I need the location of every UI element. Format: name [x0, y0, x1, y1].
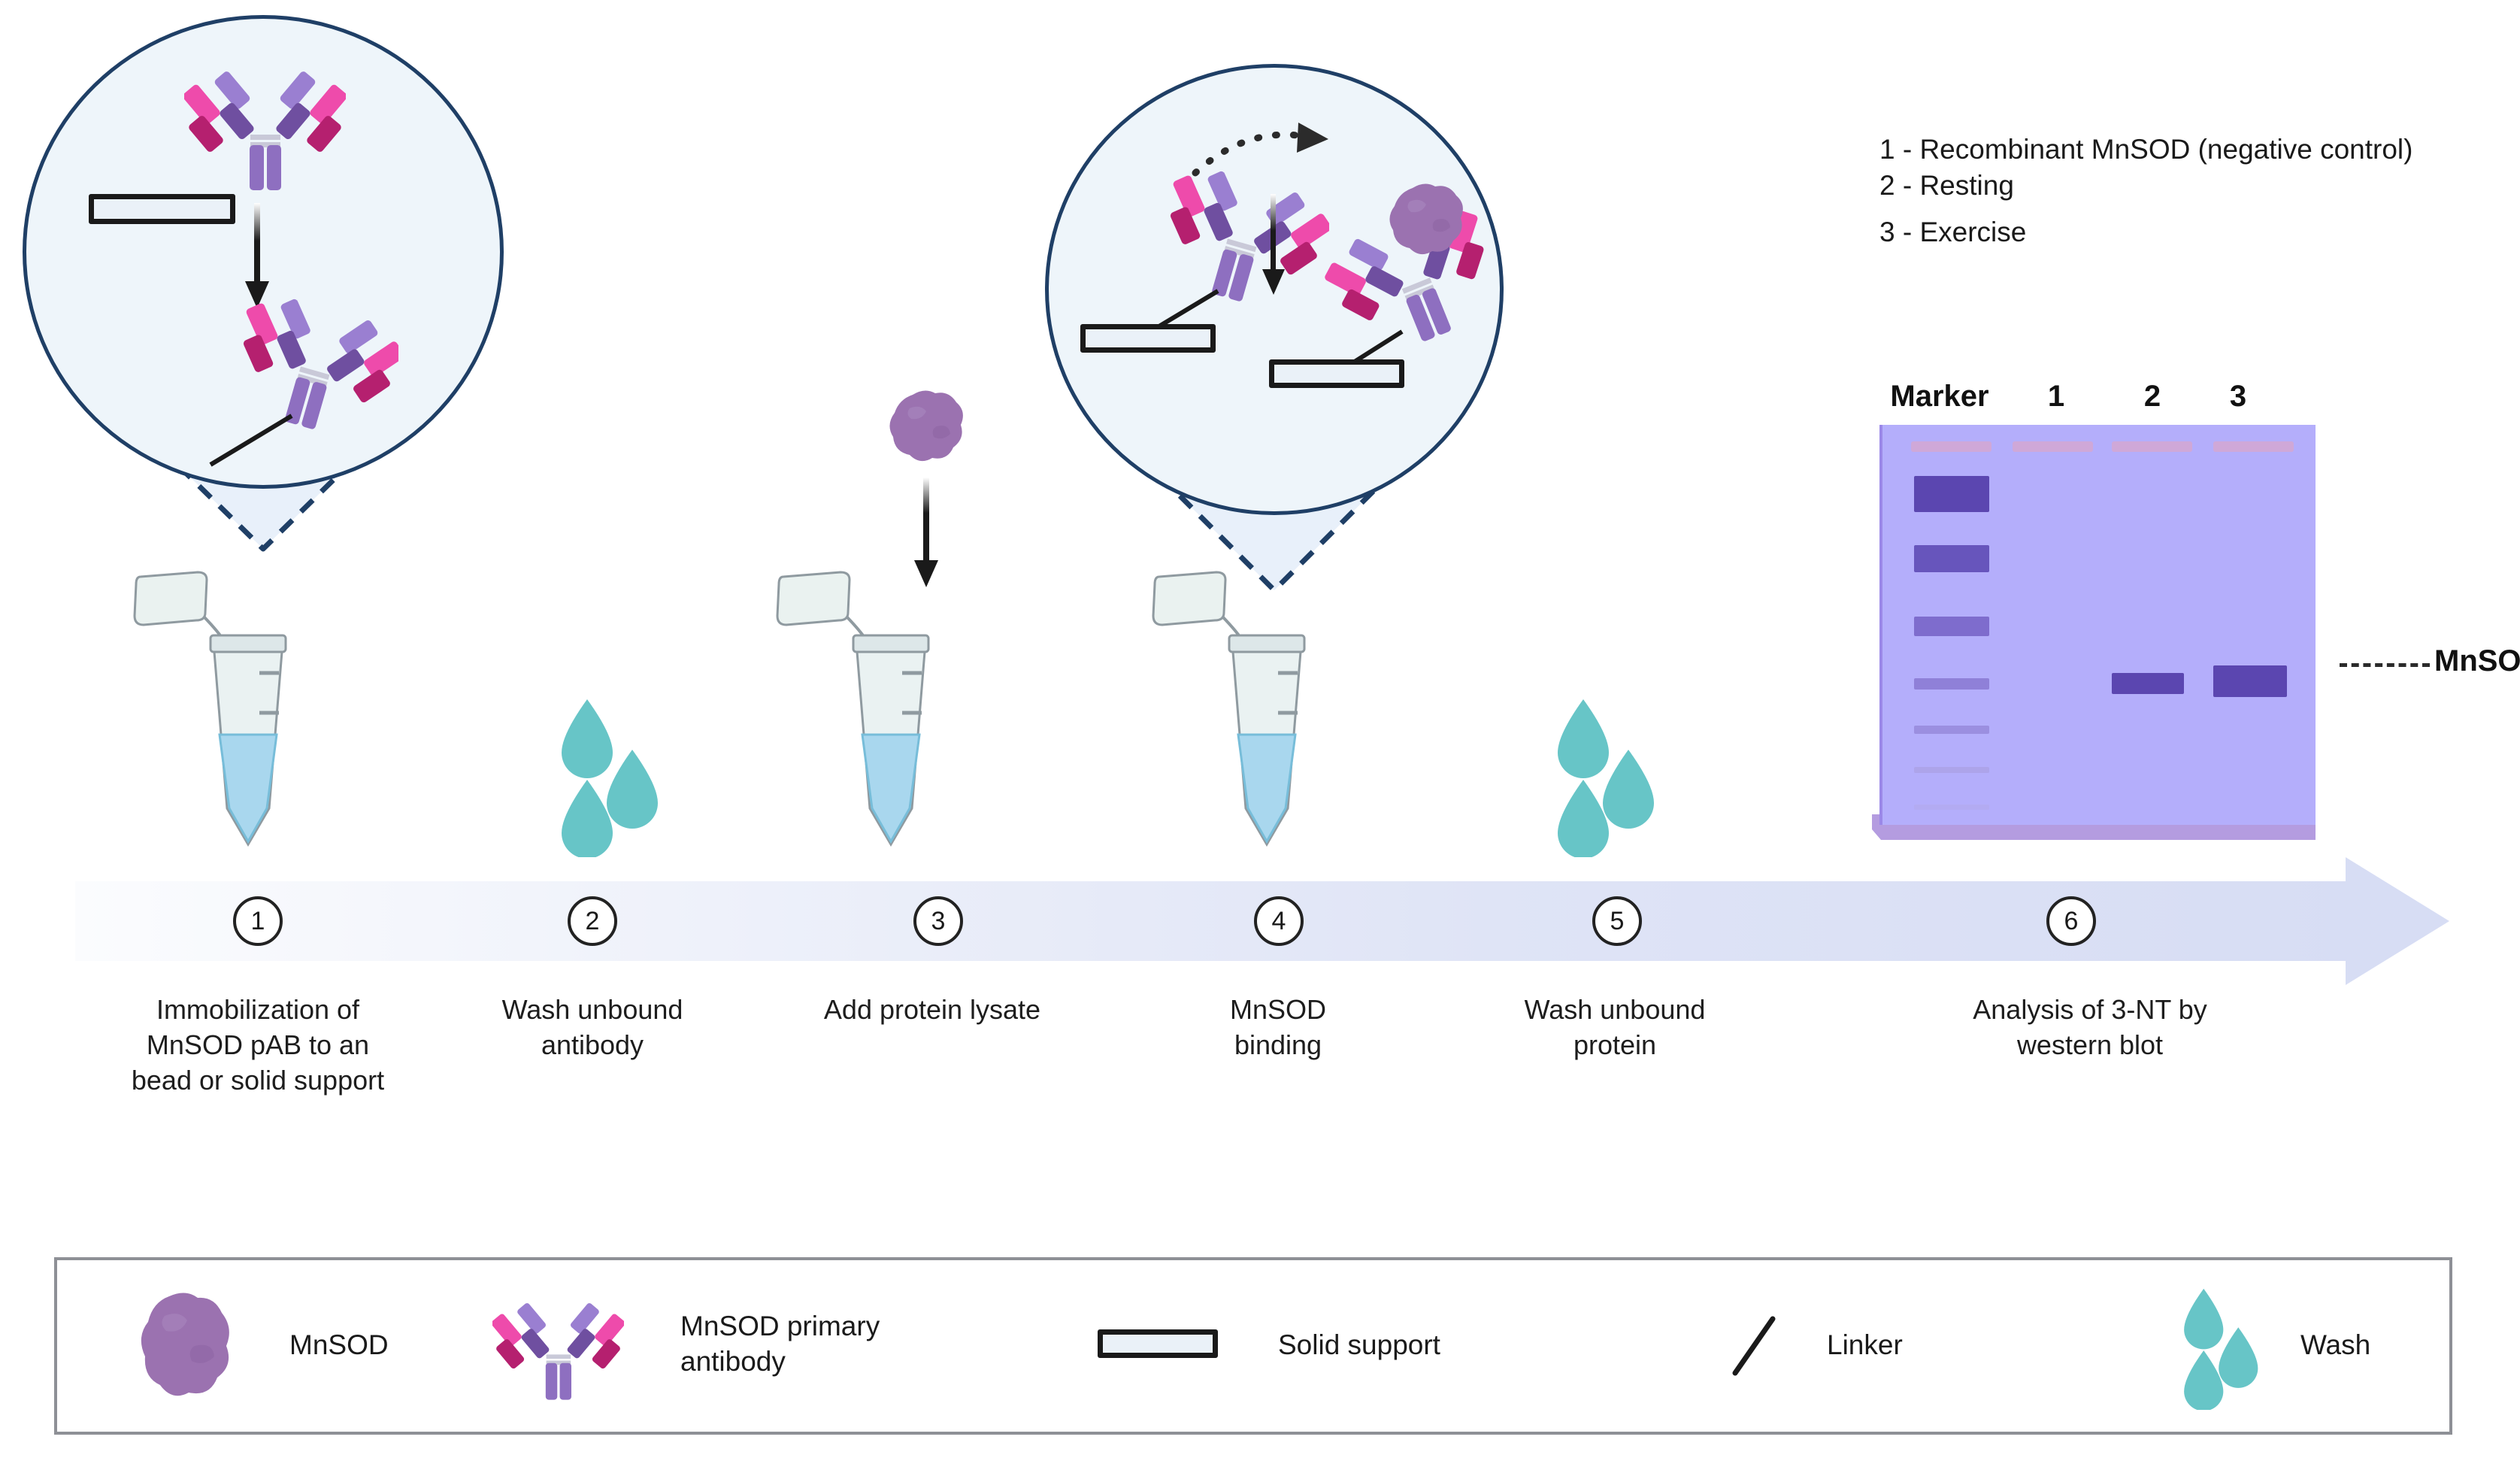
solid-support-icon-mag1 — [89, 194, 235, 224]
step-marker-2[interactable]: 2 — [568, 896, 617, 946]
step-caption-1: Immobilization of MnSOD pAB to an bead o… — [77, 993, 438, 1098]
timeline-arrow-head — [2346, 857, 2451, 985]
tube-step-1 — [132, 560, 304, 861]
wash-droplets-icon-step2 — [560, 696, 680, 857]
step-marker-5[interactable]: 5 — [1592, 896, 1642, 946]
solid-support-icon-mag2-left — [1080, 324, 1216, 353]
gel-band-marker-5 — [1914, 726, 1989, 734]
legend-label-antibody: MnSOD primary antibody — [680, 1308, 880, 1380]
legend-label-wash: Wash — [2300, 1327, 2370, 1362]
gel-band-lane-2-mnsod — [2112, 673, 2184, 694]
gel-header-lane-3: 3 — [2197, 380, 2279, 414]
down-arrow-mag2 — [1260, 194, 1287, 298]
step-marker-4[interactable]: 4 — [1254, 896, 1304, 946]
legend-linker-icon — [1729, 1314, 1782, 1378]
western-blot-gel: Marker 1 2 3 — [1872, 380, 2338, 861]
gel-band-marker-6 — [1914, 767, 1989, 773]
mnsod-leader-line — [2340, 663, 2430, 667]
lane-key-line-1: 1 - Recombinant MnSOD (negative control) — [1879, 132, 2466, 168]
linker-icon — [211, 416, 292, 465]
mnsod-protein-icon-mag2 — [1387, 180, 1470, 259]
step-caption-5: Wash unbound protein — [1464, 993, 1765, 1063]
antibody-icon-mag1-top — [184, 56, 346, 192]
legend-wash-droplets-icon — [2173, 1286, 2285, 1410]
legend-box — [54, 1257, 2452, 1435]
gel-well-lane-1 — [2013, 441, 2093, 452]
legend-solid-support-icon — [1098, 1329, 1218, 1358]
antibody-on-support-mag1 — [165, 293, 398, 481]
lane-key: 1 - Recombinant MnSOD (negative control)… — [1879, 132, 2466, 250]
gel-band-marker-4 — [1914, 678, 1989, 690]
gel-band-marker-3 — [1914, 617, 1989, 636]
gel-well-marker — [1911, 441, 1991, 452]
step-marker-1[interactable]: 1 — [233, 896, 283, 946]
legend-label-linker: Linker — [1827, 1327, 1903, 1362]
gel-shadow — [1881, 823, 2316, 840]
legend-label-mnsod: MnSOD — [289, 1327, 389, 1362]
lane-key-line-3: 3 - Exercise — [1879, 214, 2466, 250]
gel-slab — [1879, 425, 2316, 825]
tube-step-3 — [774, 560, 947, 861]
gel-header-marker: Marker — [1864, 380, 2015, 414]
gel-header-lane-2: 2 — [2111, 380, 2194, 414]
step-caption-6: Analysis of 3-NT by western blot — [1910, 993, 2270, 1063]
gel-band-lane-3-mnsod — [2213, 665, 2287, 697]
step-marker-6[interactable]: 6 — [2046, 896, 2096, 946]
step-caption-2: Wash unbound antibody — [442, 993, 743, 1063]
gel-band-marker-1 — [1914, 476, 1989, 512]
lane-key-line-2: 2 - Resting — [1879, 168, 2466, 204]
gel-band-marker-2 — [1914, 545, 1989, 572]
step-caption-4: MnSOD binding — [1150, 993, 1406, 1063]
step-caption-3: Add protein lysate — [774, 993, 1090, 1028]
legend-antibody-icon — [492, 1286, 624, 1406]
figure-canvas: 1 - Recombinant MnSOD (negative control)… — [0, 0, 2520, 1467]
tube-step-4 — [1150, 560, 1323, 861]
gel-well-lane-3 — [2213, 441, 2294, 452]
legend-label-solid-support: Solid support — [1278, 1327, 1440, 1362]
legend-mnsod-protein-icon — [139, 1289, 237, 1402]
timeline-arrow-shaft — [75, 881, 2355, 961]
gel-header-lane-1: 1 — [2015, 380, 2097, 414]
wash-droplets-icon-step5 — [1556, 696, 1676, 857]
step-marker-3[interactable]: 3 — [913, 896, 963, 946]
gel-well-lane-2 — [2112, 441, 2192, 452]
mnsod-protein-icon-step3 — [887, 387, 970, 466]
gel-band-marker-7 — [1914, 805, 1989, 810]
solid-support-icon-mag2-right — [1269, 359, 1404, 388]
mnsod-band-label: MnSOD — [2434, 644, 2520, 678]
